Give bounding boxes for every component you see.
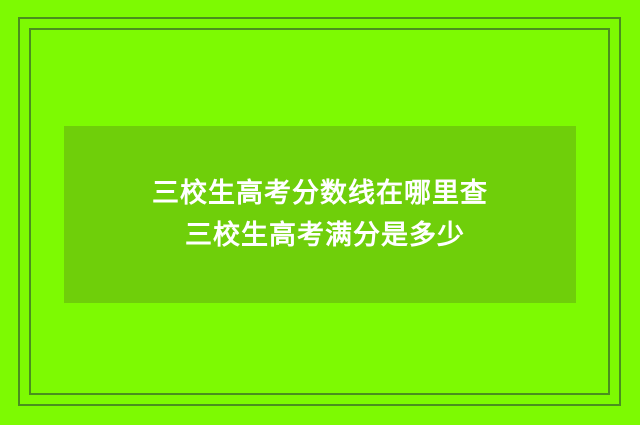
poster-canvas: 三校生高考分数线在哪里查 三校生高考满分是多少 (0, 0, 640, 425)
headline-panel: 三校生高考分数线在哪里查 三校生高考满分是多少 (64, 126, 576, 303)
headline-line-2: 三校生高考满分是多少 (185, 215, 465, 257)
headline-line-1: 三校生高考分数线在哪里查 (152, 173, 488, 215)
